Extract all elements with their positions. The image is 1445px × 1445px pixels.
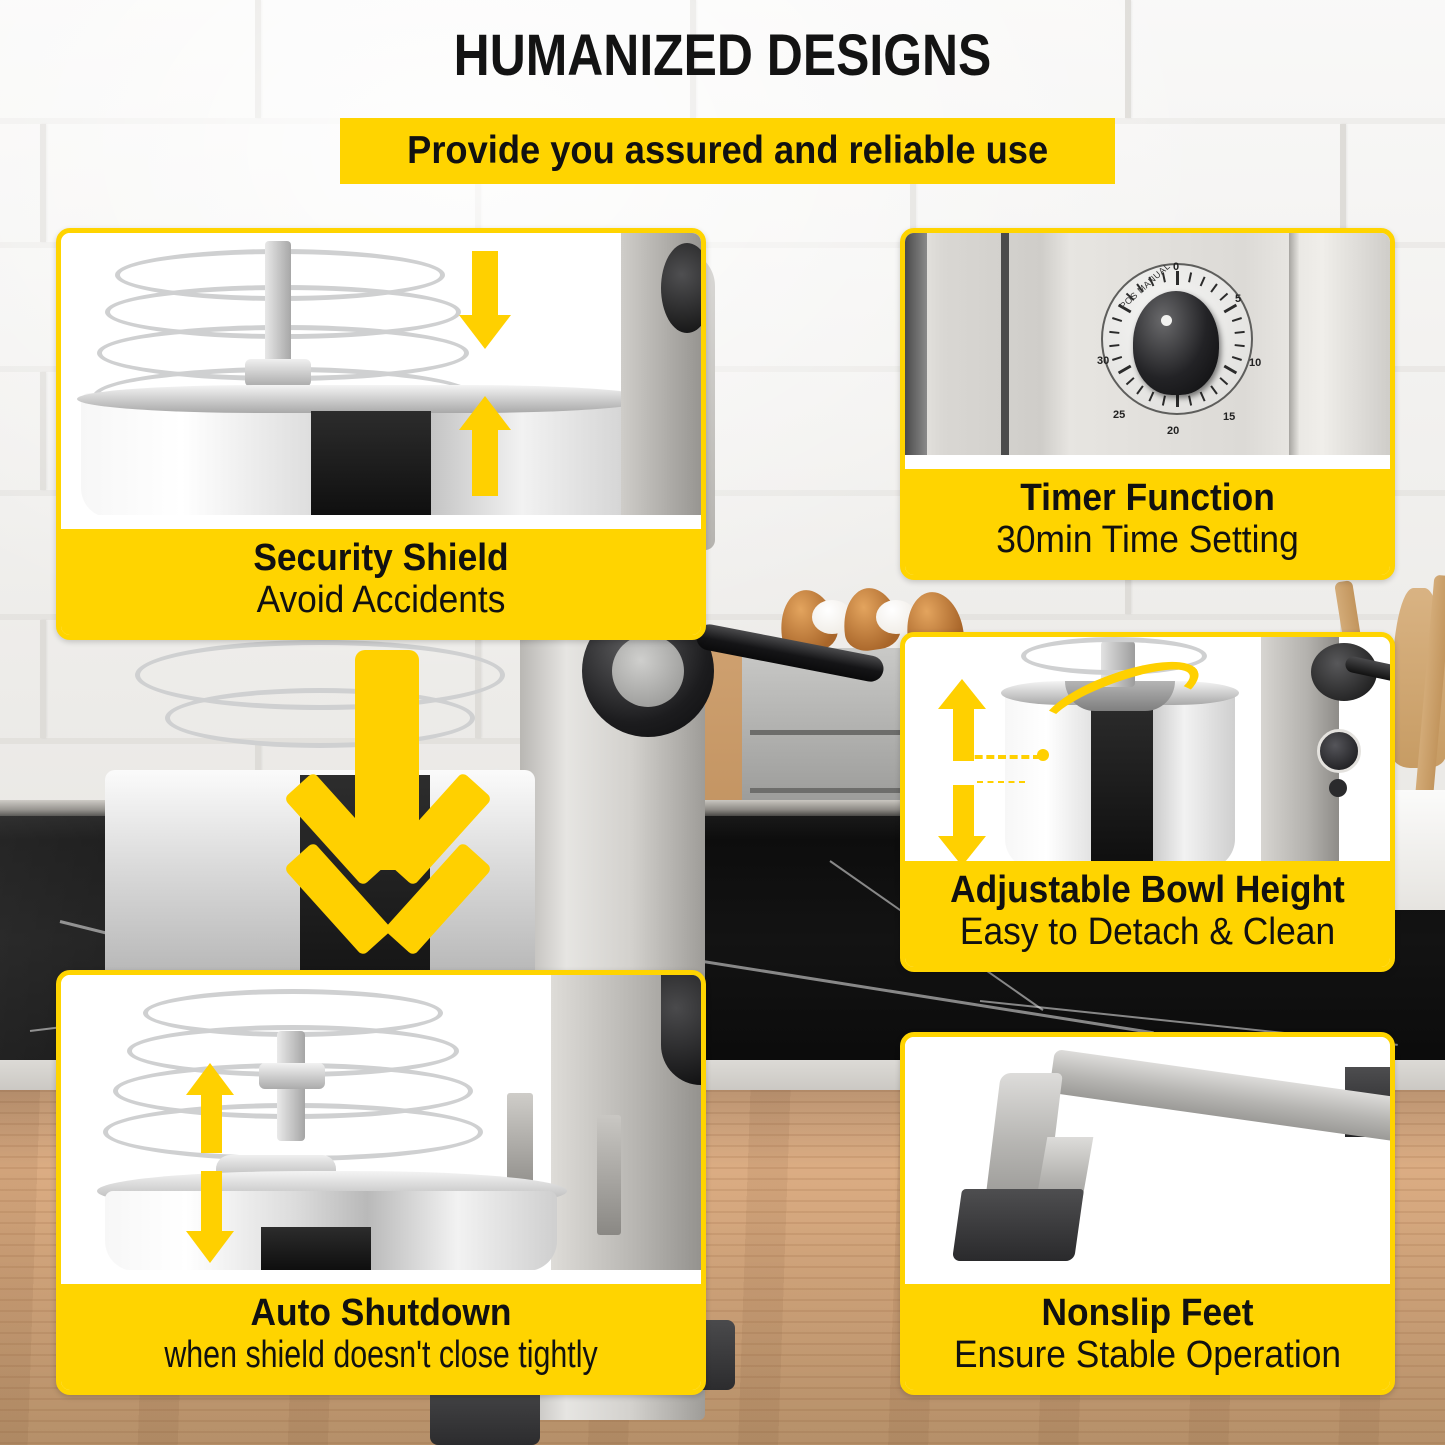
timer-caption: Timer Function 30min Time Setting [905,469,1390,575]
bowl-rim [77,385,652,413]
mixer-leg-bar [1049,1049,1390,1143]
up-arrow-icon [459,396,511,496]
timer-knob [1133,291,1219,395]
guide-endpoint-dot [1037,749,1049,761]
panel-timer-function[interactable]: 0 5 10 15 20 25 30 POS MANUAL Timer Func… [900,228,1395,580]
panel-title: Auto Shutdown [89,1292,673,1335]
dashed-guide-line [963,755,1041,759]
dashed-guide-line-2 [977,781,1025,783]
up-arrow-icon [189,1063,235,1153]
dial-number-30: 30 [1097,355,1109,367]
dial-number-25: 25 [1113,409,1125,421]
subtitle-text: Provide you assured and reliable use [407,129,1048,173]
dial-number-0: 0 [1173,261,1179,273]
panel-title: Timer Function [928,477,1368,520]
handwheel-hub [612,635,684,707]
panel-nonslip-feet[interactable]: Nonslip Feet Ensure Stable Operation [900,1032,1395,1395]
panel-title: Adjustable Bowl Height [928,869,1368,912]
panel-subtitle: when shield doesn't close tightly [130,1334,632,1378]
bowl-dark-band [311,411,431,515]
dial-number-20: 20 [1167,425,1179,437]
timer-photo: 0 5 10 15 20 25 30 POS MANUAL [905,233,1390,455]
security-shield-caption: Security Shield Avoid Accidents [61,529,701,635]
auto-shutdown-caption: Auto Shutdown when shield doesn't close … [61,1284,701,1390]
timer-knob-indicator [1161,315,1172,326]
panel-title: Security Shield [89,537,673,580]
dial-number-10: 10 [1249,357,1261,369]
panel-subtitle: Ensure Stable Operation [928,1334,1368,1378]
auto-shutdown-photo [61,975,701,1270]
panel-auto-shutdown[interactable]: Auto Shutdown when shield doesn't close … [56,970,706,1395]
down-arrow-icon [459,251,511,351]
dial-number-5: 5 [1235,293,1241,305]
up-arrow-icon [941,679,987,761]
subtitle-banner: Provide you assured and reliable use [340,118,1115,184]
panel-security-shield[interactable]: Security Shield Avoid Accidents [56,228,706,640]
rubber-foot-cap [952,1189,1084,1261]
panel-subtitle: Avoid Accidents [89,579,673,623]
panel-subtitle: Easy to Detach & Clean [928,911,1368,955]
panel-subtitle: 30min Time Setting [928,519,1368,563]
bowl-height-photo [905,637,1390,879]
security-shield-photo [61,233,701,515]
double-chevron-down-icon [300,650,485,945]
nonslip-feet-caption: Nonslip Feet Ensure Stable Operation [905,1284,1390,1390]
bowl-dark-band [261,1227,371,1270]
panel-adjustable-bowl-height[interactable]: Adjustable Bowl Height Easy to Detach & … [900,632,1395,972]
down-arrow-icon [189,1171,235,1265]
panel-title: Nonslip Feet [928,1292,1368,1335]
down-arrow-icon [941,785,987,867]
page-title: HUMANIZED DESIGNS [101,22,1344,89]
nonslip-feet-photo [905,1037,1390,1275]
dial-number-15: 15 [1223,411,1235,423]
bowl-height-caption: Adjustable Bowl Height Easy to Detach & … [905,861,1390,967]
